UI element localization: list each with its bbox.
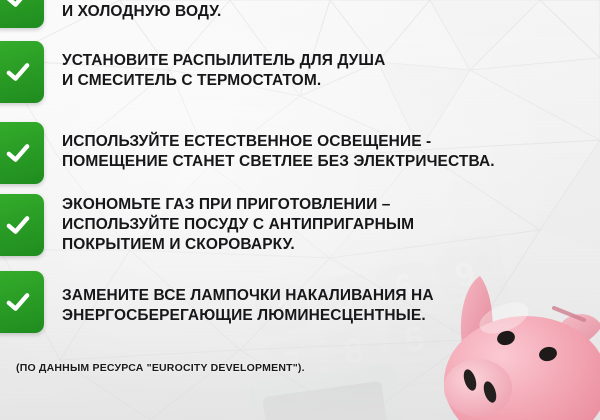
checklist-check-box <box>0 271 44 333</box>
checklist-check-box <box>0 41 44 103</box>
checklist-item-text: ЭКОНОМЬТЕ ГАЗ ПРИ ПРИГОТОВЛЕНИИ – ИСПОЛЬ… <box>62 195 414 255</box>
check-mark-icon <box>3 57 33 87</box>
checklist-item-text: УСТАНОВИТЕ РАСПЫЛИТЕЛЬ ДЛЯ ДУША И СМЕСИТ… <box>62 51 385 91</box>
checklist-check-box <box>0 0 44 28</box>
piggy-bank-illustration <box>434 262 600 420</box>
check-mark-icon <box>3 287 33 317</box>
energy-saving-tips-poster: 4 5 6 9 7 8 5 <box>0 0 600 420</box>
check-mark-icon <box>3 0 33 13</box>
checklist-check-box <box>0 194 44 256</box>
check-mark-icon <box>3 210 33 240</box>
checklist-item-text: ЗАМЕНИТЕ ВСЕ ЛАМПОЧКИ НАКАЛИВАНИЯ НА ЭНЕ… <box>62 286 434 326</box>
source-footnote: (ПО ДАННЫМ РЕСУРСА "EUROCITY DEVELOPMENT… <box>16 362 305 375</box>
check-mark-icon <box>3 138 33 168</box>
checklist-check-box <box>0 122 44 184</box>
checklist-item-text: ИСПОЛЬЗУЙТЕ ЕСТЕСТВЕННОЕ ОСВЕЩЕНИЕ - ПОМ… <box>62 132 495 172</box>
checklist-item-text: И ХОЛОДНУЮ ВОДУ. <box>62 2 221 22</box>
